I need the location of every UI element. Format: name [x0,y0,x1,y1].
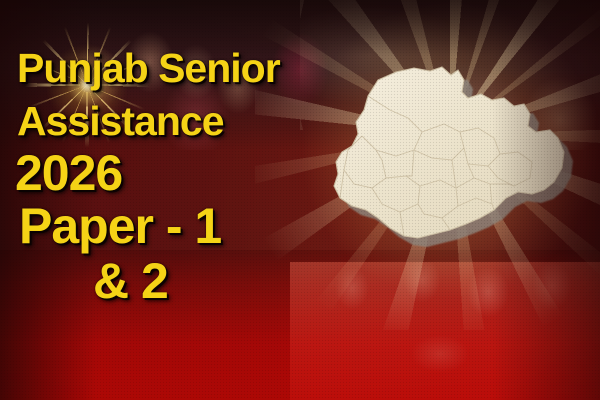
banner-headline: Punjab Senior Assistance 2026 Paper - 1 … [0,0,330,400]
headline-paper-2: & 2 [93,256,168,306]
exam-announcement-banner: Punjab Senior Assistance 2026 Paper - 1 … [0,0,600,400]
headline-line-1: Punjab Senior [17,48,280,89]
headline-paper-1: Paper - 1 [19,201,221,251]
headline-line-2: Assistance [17,101,224,142]
headline-year: 2026 [15,148,122,198]
